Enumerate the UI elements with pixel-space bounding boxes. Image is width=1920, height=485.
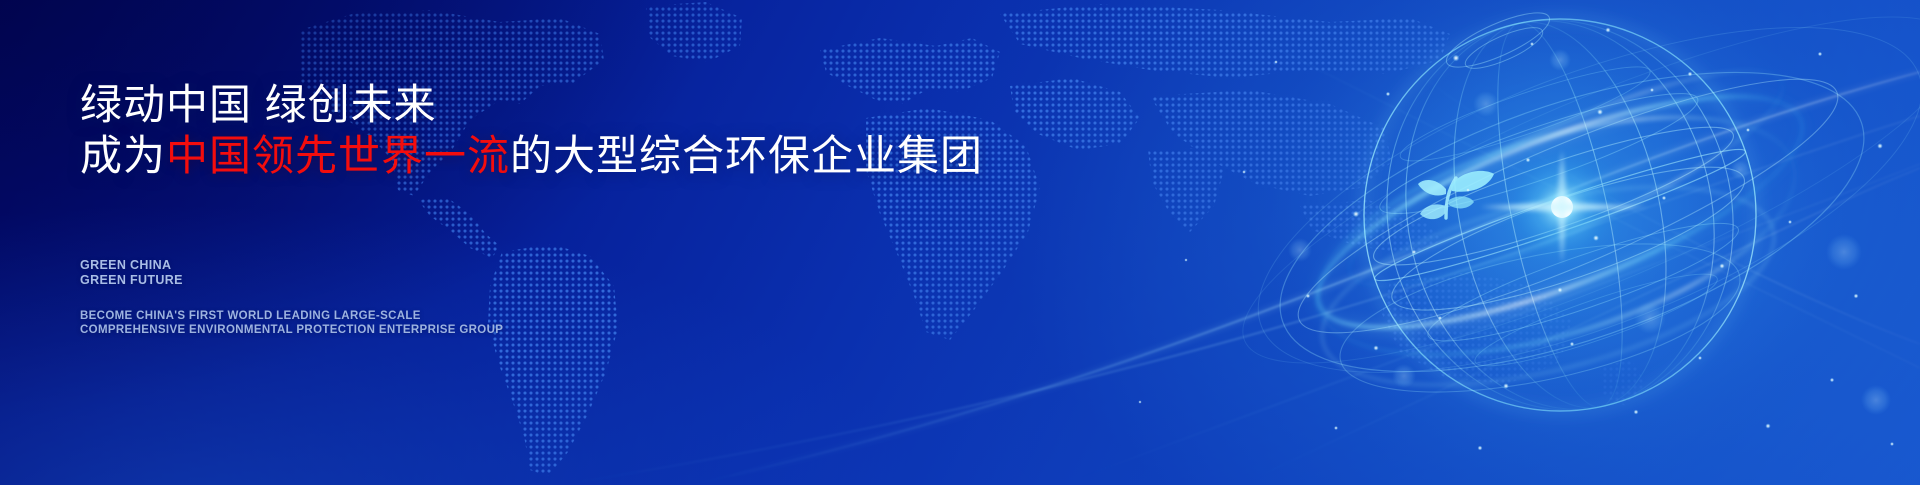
- headline-line-2-prefix: 成为: [80, 132, 166, 179]
- core-flare: [1480, 141, 1648, 273]
- tagline-english: GREEN CHINA GREEN FUTURE: [80, 258, 183, 287]
- headline-line-1: 绿动中国 绿创未来: [80, 82, 437, 128]
- description-english-line-2: COMPREHENSIVE ENVIRONMENTAL PROTECTION E…: [80, 324, 503, 338]
- headline-line-2: 成为中国领先世界一流的大型综合环保企业集团: [80, 133, 983, 179]
- description-english-line-1: BECOME CHINA'S FIRST WORLD LEADING LARGE…: [80, 310, 503, 324]
- banner-content: 绿动中国 绿创未来 成为中国领先世界一流的大型综合环保企业集团 GREEN CH…: [0, 0, 1100, 485]
- headline-line-2-suffix: 的大型综合环保企业集团: [510, 132, 983, 179]
- tagline-english-line-1: GREEN CHINA: [80, 258, 183, 273]
- sprout-icon: [1418, 171, 1494, 219]
- description-english: BECOME CHINA'S FIRST WORLD LEADING LARGE…: [80, 310, 503, 337]
- headline-line-2-highlight: 中国领先世界一流: [166, 132, 510, 179]
- tagline-english-line-2: GREEN FUTURE: [80, 273, 183, 288]
- hero-banner: 绿动中国 绿创未来 成为中国领先世界一流的大型综合环保企业集团 GREEN CH…: [0, 0, 1920, 485]
